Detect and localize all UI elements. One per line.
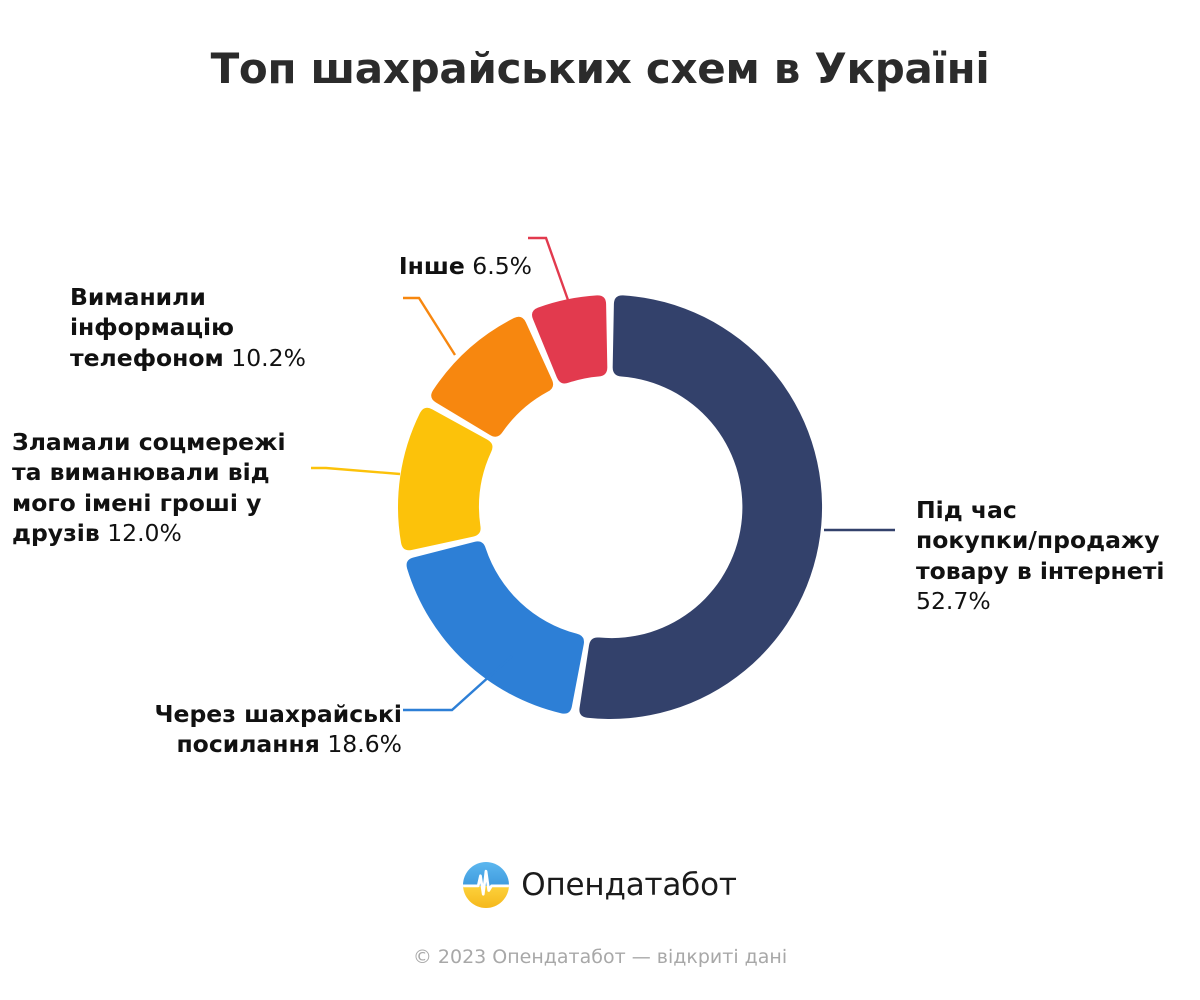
- slice-value-fraud-links: 18.6%: [327, 730, 402, 758]
- slice-label-text-other: Інше: [399, 252, 465, 280]
- slice-label-online-purchase-sale: Під час покупки/продажу товару в інтерне…: [916, 464, 1178, 617]
- donut-slice-fraud-links[interactable]: [407, 541, 584, 713]
- slice-label-hacked-social-networks: Зламали соцмережі та виманювали від мого…: [12, 396, 302, 549]
- donut-slice-group: [398, 295, 822, 719]
- brand-lockup: Опендатабот: [0, 862, 1200, 908]
- slice-label-text-phone-information: Виманили інформацію телефоном: [70, 283, 234, 372]
- slice-value-phone-information: 10.2%: [231, 344, 306, 372]
- slice-value-online-purchase-sale: 52.7%: [916, 587, 991, 615]
- brand-name: Опендатабот: [521, 867, 736, 903]
- copyright-text: © 2023 Опендатабот — відкриті дані: [0, 946, 1200, 968]
- leader-line-hacked-social-networks: [311, 468, 400, 474]
- slice-value-hacked-social-networks: 12.0%: [107, 519, 182, 547]
- leader-line-other: [528, 238, 568, 300]
- donut-slice-phone-information[interactable]: [431, 317, 553, 437]
- opendatabot-pulse-circle-icon: [463, 862, 509, 908]
- leader-line-phone-information: [403, 298, 455, 355]
- slice-label-fraud-links: Через шахрайські посилання 18.6%: [12, 668, 402, 760]
- slice-value-other: 6.5%: [472, 252, 532, 280]
- slice-label-other: Інше 6.5%: [200, 220, 532, 281]
- donut-slice-online-purchase-sale[interactable]: [579, 295, 822, 719]
- donut-slice-hacked-social-networks[interactable]: [398, 408, 492, 551]
- infographic-canvas: Топ шахрайських схем в Україні Під час п…: [0, 0, 1200, 1000]
- slice-label-text-online-purchase-sale: Під час покупки/продажу товару в інтерне…: [916, 496, 1164, 585]
